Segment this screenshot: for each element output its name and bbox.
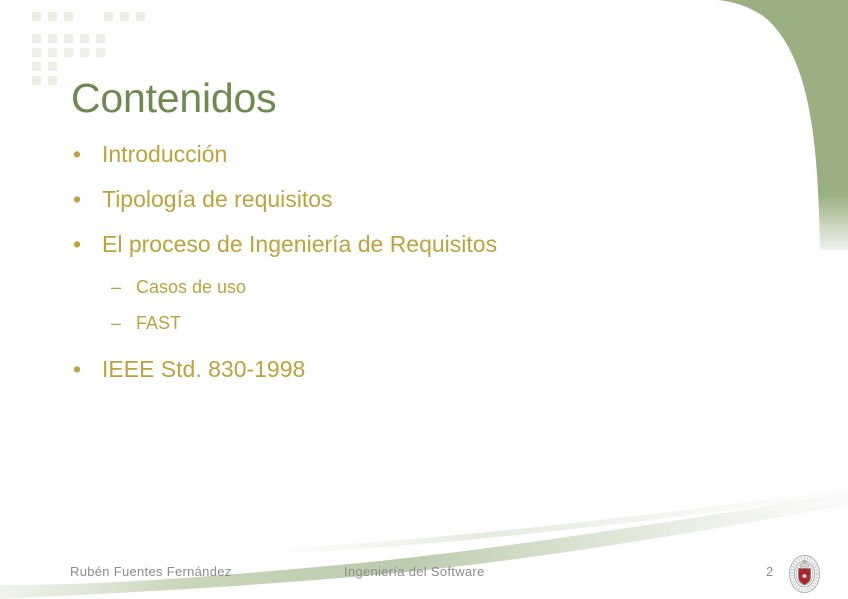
outline-item-label: IEEE Std. 830-1998 xyxy=(102,356,305,382)
slide-title: Contenidos xyxy=(71,77,276,120)
outline-subitem-label: Casos de uso xyxy=(136,277,246,297)
outline-item-el-proceso-de-ingenieria-de-requisitos[interactable]: • El proceso de Ingeniería de Requisitos xyxy=(68,233,728,256)
dash-marker: – xyxy=(111,278,121,296)
green-swoosh-footer xyxy=(0,489,848,599)
content-outline: • Introducción • Tipología de requisitos… xyxy=(68,143,728,403)
green-curve-right xyxy=(718,0,848,250)
dash-marker: – xyxy=(111,314,121,332)
page-number: 2 xyxy=(766,564,773,579)
footer-course: Ingeniería del Software xyxy=(344,564,485,579)
outline-item-label: Tipología de requisitos xyxy=(102,186,333,212)
bullet-marker: • xyxy=(73,188,81,211)
bullet-marker: • xyxy=(73,233,81,256)
outline-item-tipologia-de-requisitos[interactable]: • Tipología de requisitos xyxy=(68,188,728,211)
ucm-crest-logo xyxy=(787,554,822,594)
footer-author: Rubén Fuentes Fernández xyxy=(70,564,232,579)
bullet-marker: • xyxy=(73,358,81,381)
dot-grid-decoration xyxy=(32,12,142,74)
slide-canvas: Contenidos • Introducción • Tipología de… xyxy=(0,0,848,599)
outline-subitem-label: FAST xyxy=(136,313,181,333)
outline-item-label: Introducción xyxy=(102,141,227,167)
outline-subitem-fast[interactable]: – FAST xyxy=(68,314,728,332)
outline-item-label: El proceso de Ingeniería de Requisitos xyxy=(102,231,497,257)
outline-item-introduccion[interactable]: • Introducción xyxy=(68,143,728,166)
outline-item-ieee-std-830-1998[interactable]: • IEEE Std. 830-1998 xyxy=(68,358,728,381)
outline-subitem-casos-de-uso[interactable]: – Casos de uso xyxy=(68,278,728,296)
bullet-marker: • xyxy=(73,143,81,166)
